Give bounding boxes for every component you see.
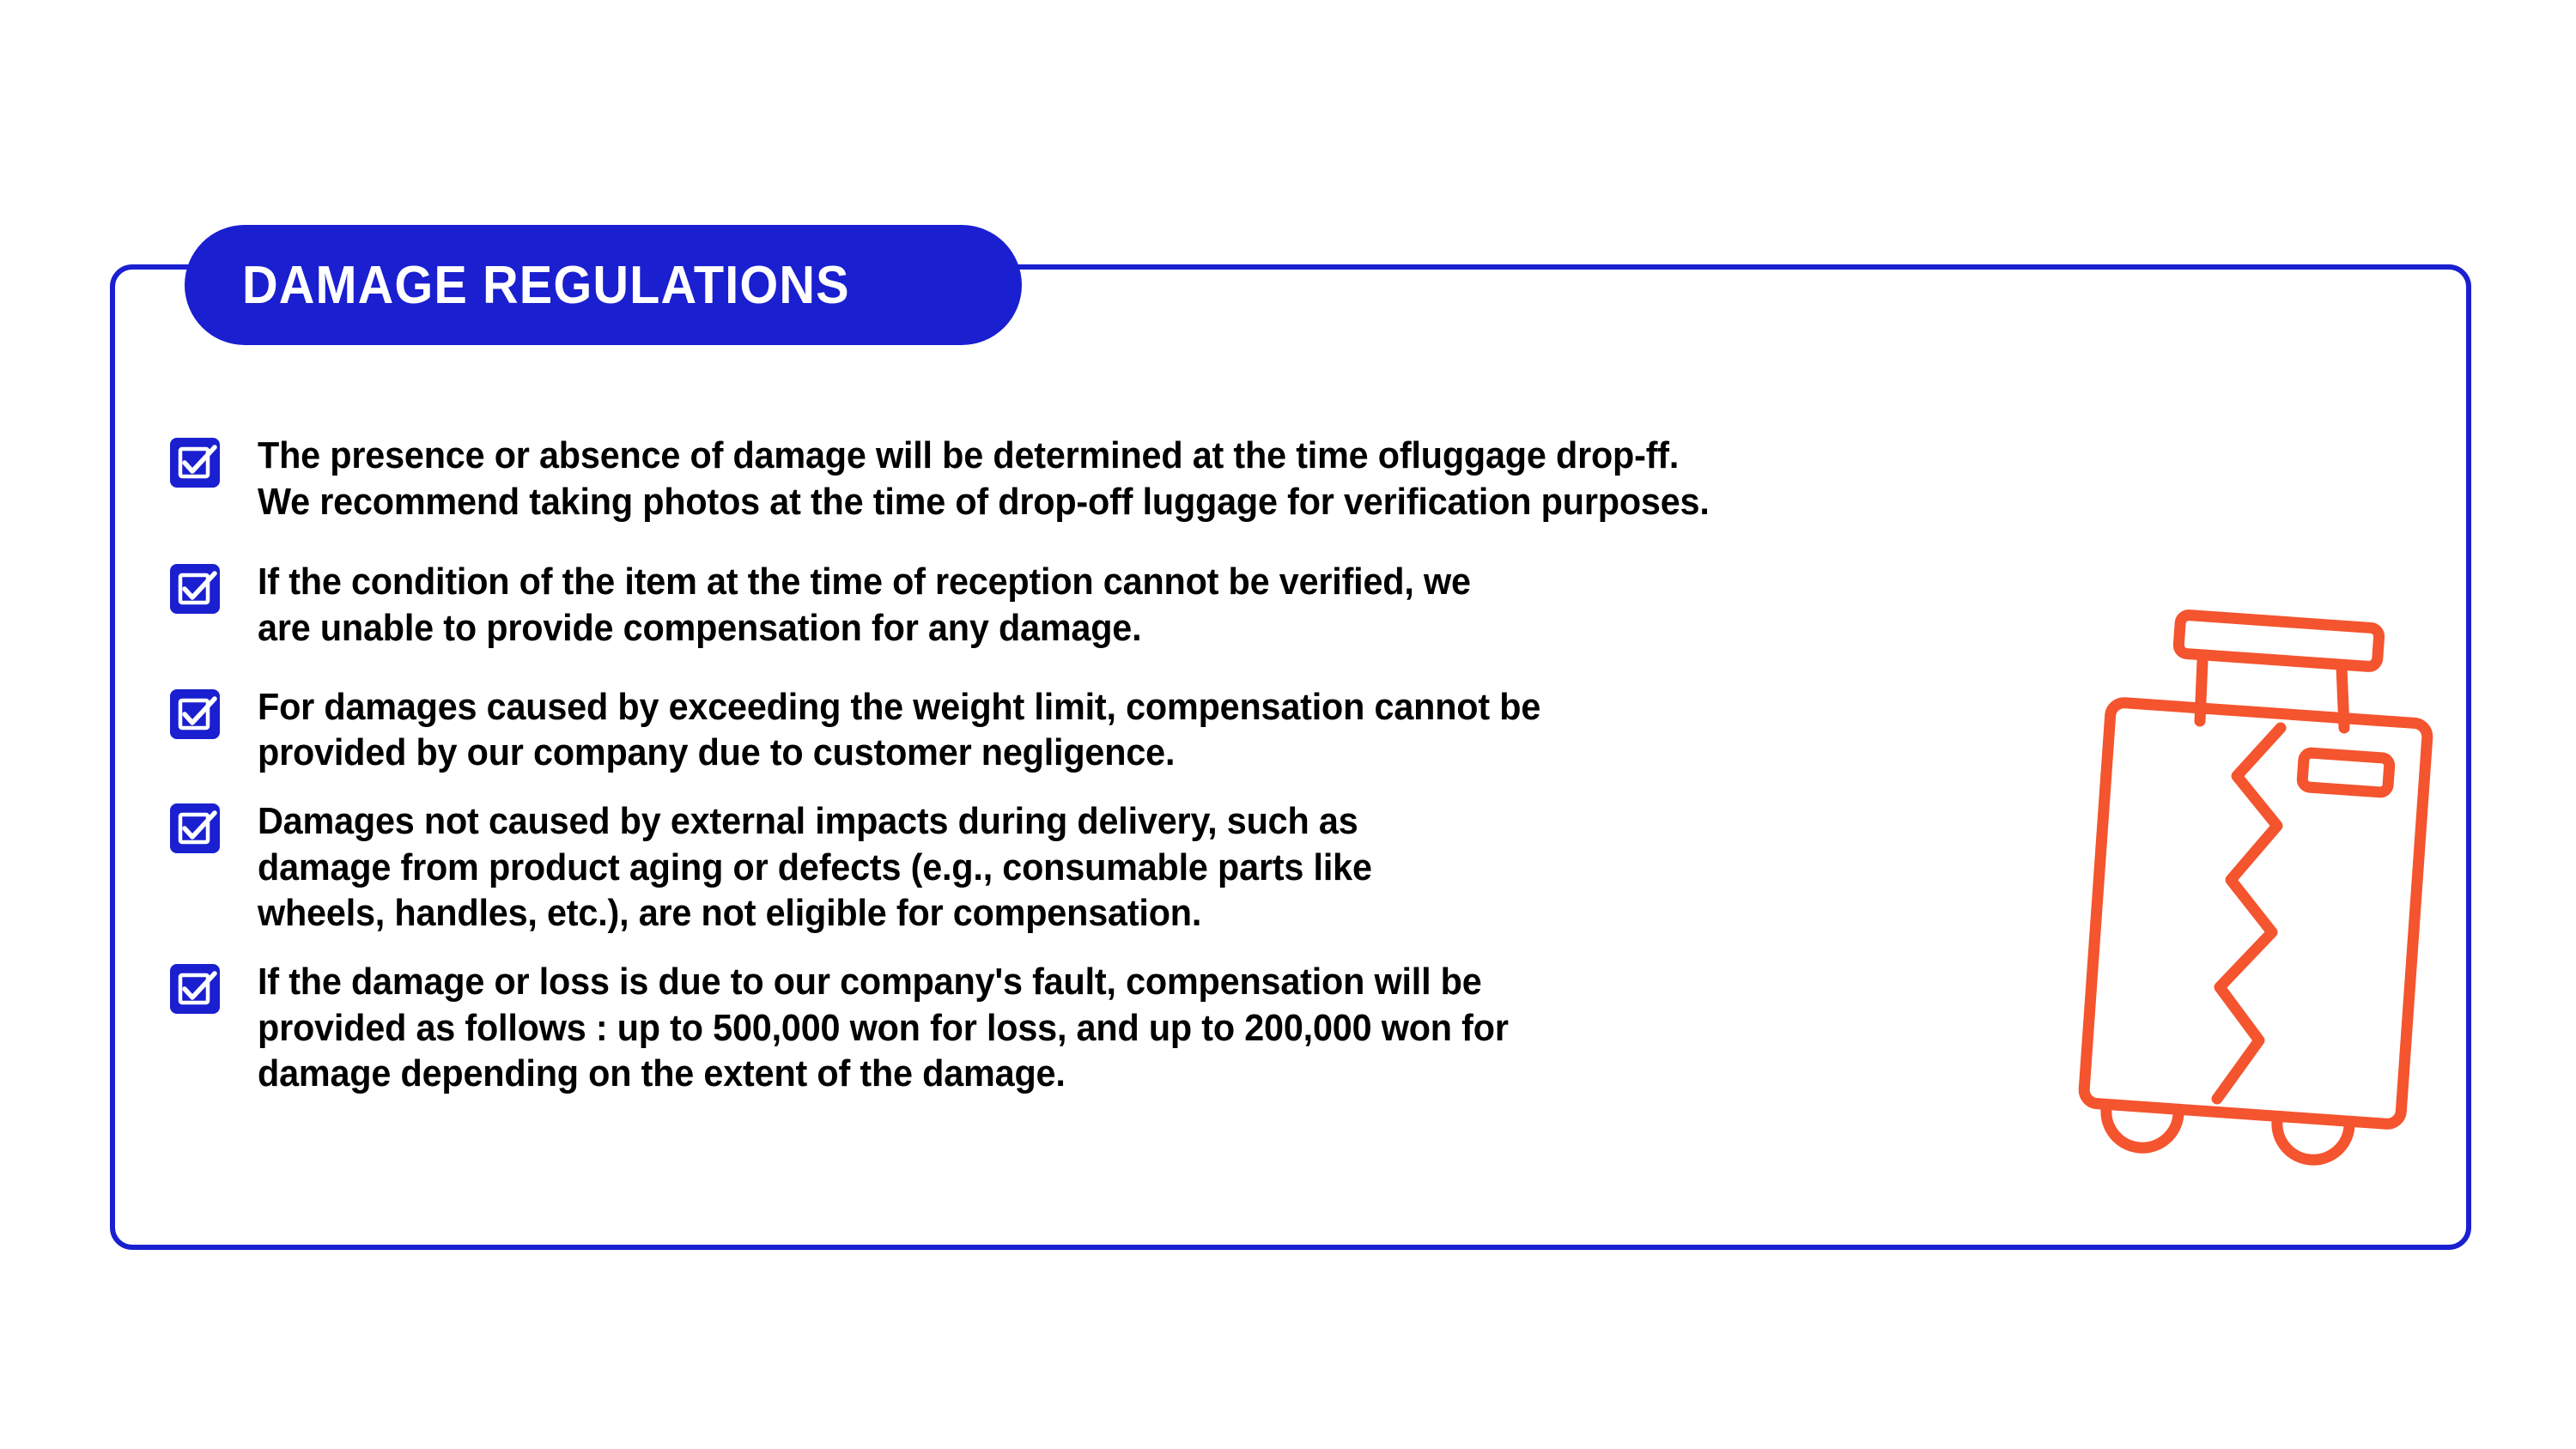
list-item-text: For damages caused by exceeding the weig…	[258, 684, 2056, 776]
list-item-text: If the damage or loss is due to our comp…	[258, 959, 2056, 1097]
checkbox-checked-icon	[170, 564, 220, 614]
checkbox-checked-icon	[170, 803, 220, 853]
list-item-text: If the condition of the item at the time…	[258, 559, 2056, 651]
checkbox-checked-icon	[170, 964, 220, 1014]
list-item: The presence or absence of damage will b…	[170, 433, 2171, 524]
list-item: If the damage or loss is due to our comp…	[170, 959, 2171, 1097]
list-item: Damages not caused by external impacts d…	[170, 798, 2171, 937]
checkbox-checked-icon	[170, 689, 220, 739]
list-item: For damages caused by exceeding the weig…	[170, 684, 2171, 776]
list-item: If the condition of the item at the time…	[170, 559, 2171, 651]
checkbox-checked-icon	[170, 438, 220, 488]
card-title-pill: DAMAGE REGULATIONS	[185, 225, 1022, 345]
regulations-list: The presence or absence of damage will b…	[170, 433, 2171, 1097]
page-title: DAMAGE REGULATIONS	[185, 255, 850, 316]
list-item-text: The presence or absence of damage will b…	[258, 433, 2056, 524]
list-item-text: Damages not caused by external impacts d…	[258, 798, 2056, 937]
